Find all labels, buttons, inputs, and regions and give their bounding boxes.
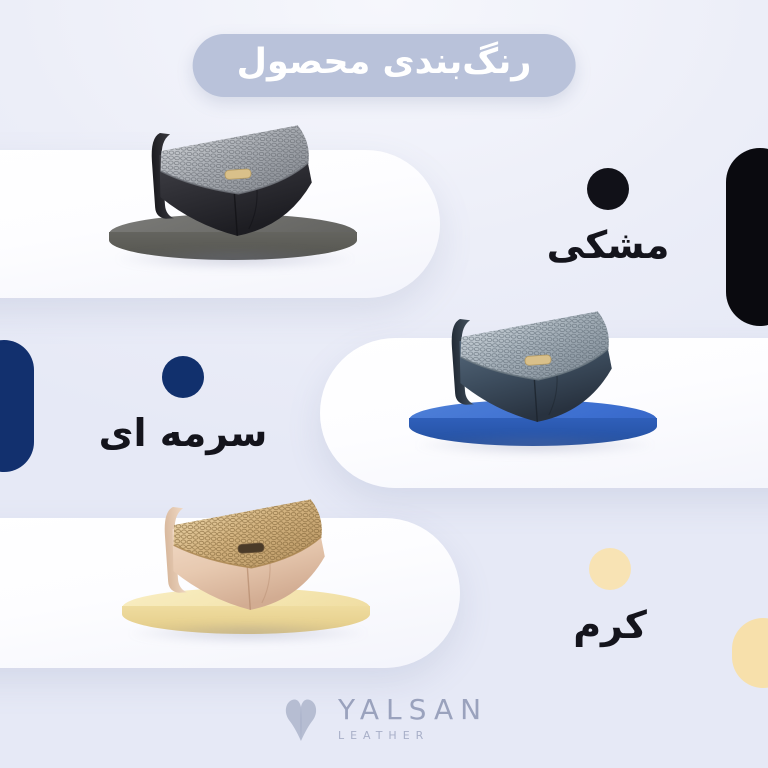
variant-swatch-black[interactable]: مشکی xyxy=(528,168,688,268)
color-dot-icon-cream[interactable] xyxy=(589,548,631,590)
product-showcase-cream xyxy=(108,458,384,636)
edge-accent-block-navy xyxy=(0,340,34,472)
brand-logo: YALSAN LEATHER xyxy=(280,694,488,742)
brand-wordmark: YALSAN LEATHER xyxy=(338,696,488,741)
podium-shadow-cream xyxy=(128,622,368,644)
product-color-variants-poster: رنگ‌بندی محصول xyxy=(0,0,768,768)
edge-accent-block-cream xyxy=(732,618,768,688)
edge-accent-block-black xyxy=(726,148,768,326)
variant-label-navy: سرمه ای xyxy=(98,412,268,456)
variant-swatch-cream[interactable]: کرم xyxy=(530,548,690,648)
brand-subtitle: LEATHER xyxy=(338,730,429,741)
product-showcase-navy xyxy=(398,278,668,448)
product-showcase-black xyxy=(98,92,368,262)
trefoil-leaf-icon xyxy=(280,694,322,742)
handbag-navy xyxy=(429,289,637,431)
podium-shadow-navy xyxy=(415,434,655,456)
color-dot-icon-navy[interactable] xyxy=(162,356,204,398)
handbag-brand-tag xyxy=(225,169,252,180)
handbag-black xyxy=(129,103,337,245)
variant-swatch-navy[interactable]: سرمه ای xyxy=(98,356,268,456)
color-dot-icon-black[interactable] xyxy=(587,168,629,210)
variant-label-cream: کرم xyxy=(530,604,690,648)
podium-shadow-black xyxy=(115,248,355,270)
brand-name: YALSAN xyxy=(338,696,488,724)
variant-label-black: مشکی xyxy=(528,224,688,268)
page-title: رنگ‌بندی محصول xyxy=(193,34,576,97)
handbag-cream xyxy=(142,477,350,619)
handbag-brand-tag xyxy=(238,543,265,554)
handbag-brand-tag xyxy=(525,355,552,366)
